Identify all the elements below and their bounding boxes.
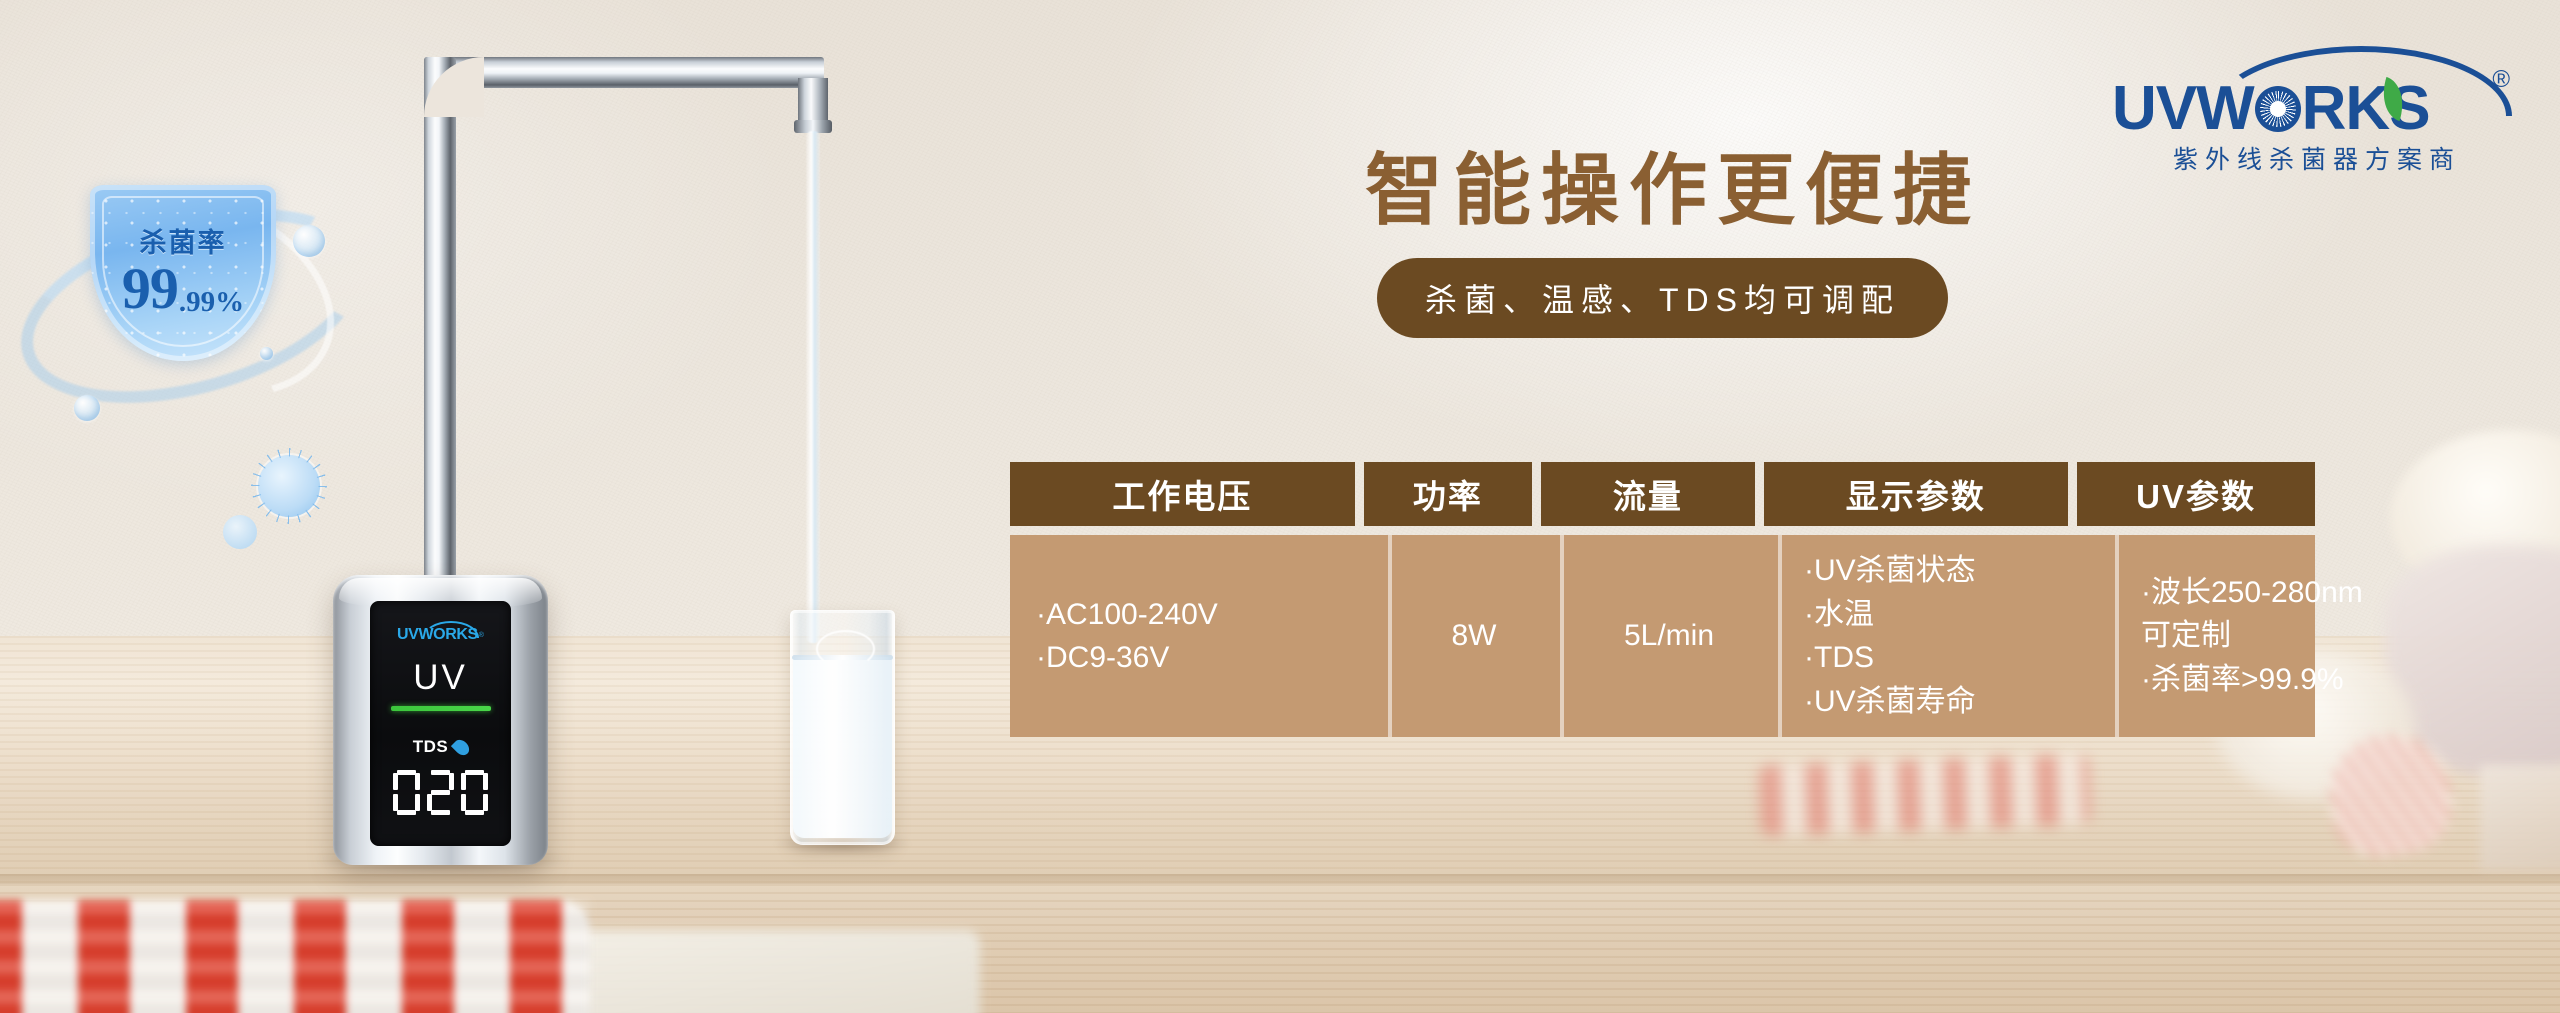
- glass-water-fill: [793, 657, 892, 838]
- badge-value: 99 .99%: [122, 262, 244, 315]
- cell-display-line-3: ·TDS: [1804, 636, 1874, 680]
- brand-sun-icon: [2255, 86, 2301, 132]
- bubble-icon-1: [293, 225, 325, 257]
- cell-power: 8W: [1388, 535, 1560, 737]
- cell-uv-line-1: ·波长250-280nm: [2141, 571, 2363, 615]
- seven-segment-digit-0b: [461, 770, 488, 815]
- display-tds-value: [393, 770, 488, 815]
- display-brand-arc-icon: [423, 621, 479, 638]
- display-status-bar: [391, 706, 491, 711]
- checkered-cloth-right: [1759, 754, 2091, 835]
- page-title: 智能操作更便捷: [1365, 128, 1981, 240]
- cell-display-line-2: ·水温: [1804, 593, 1874, 637]
- uv-sterilizer-device: UVWORKS ® UV TDS: [333, 575, 548, 865]
- bubble-icon-2: [74, 395, 100, 421]
- display-brand-logo: UVWORKS ®: [397, 626, 484, 644]
- cell-display-line-4: ·UV杀菌寿命: [1804, 680, 1976, 724]
- cell-power-value: 8W: [1452, 614, 1497, 658]
- brand-name: UVW RKS: [2112, 78, 2512, 140]
- germ-icon-2: [223, 515, 257, 549]
- cell-uv-params: ·波长250-280nm 可定制 ·杀菌率>99.9%: [2115, 535, 2384, 737]
- seven-segment-digit-2: [427, 770, 454, 815]
- column-header-power: 功率: [1364, 462, 1532, 526]
- product-banner: 杀菌率 99 .99% UVWORKS ® UV: [0, 0, 2560, 1013]
- water-drop-icon: [451, 736, 472, 757]
- cell-uv-line-2: 可定制: [2141, 614, 2231, 658]
- display-brand-registered: ®: [479, 632, 484, 639]
- spec-table-header-row: 工作电压 功率 流量 显示参数 UV参数: [1010, 462, 2315, 526]
- cell-uv-line-3: ·杀菌率>99.9%: [2141, 658, 2344, 702]
- column-header-flow: 流量: [1541, 462, 1754, 526]
- brand-name-part2: RKS: [2302, 78, 2430, 140]
- display-tds-label: TDS: [413, 737, 449, 757]
- cell-display-line-1: ·UV杀菌状态: [1804, 549, 1976, 593]
- germ-icon: [258, 455, 320, 517]
- faucet-vertical-column: [424, 57, 456, 597]
- badge-label: 杀菌率: [140, 230, 227, 257]
- column-header-uv: UV参数: [2077, 462, 2315, 526]
- display-mode-label: UV: [413, 660, 468, 695]
- spec-table-body-row: ·AC100-240V ·DC9-36V 8W 5L/min ·UV杀菌状态 ·…: [1010, 535, 2315, 737]
- seven-segment-digit-0: [393, 770, 420, 815]
- cell-flow-value: 5L/min: [1624, 614, 1714, 658]
- cell-flow: 5L/min: [1560, 535, 1778, 737]
- water-glass: [790, 610, 895, 845]
- plate-prop: [560, 930, 980, 1013]
- column-header-voltage: 工作电压: [1010, 462, 1355, 526]
- cell-voltage: ·AC100-240V ·DC9-36V: [1010, 535, 1388, 737]
- water-stream: [806, 131, 820, 643]
- brand-name-part1: UVW: [2112, 78, 2254, 140]
- brand-tagline: 紫外线杀菌器方案商: [2122, 140, 2512, 176]
- brand-registered-mark: ®: [2492, 66, 2510, 94]
- cell-voltage-line-1: ·AC100-240V: [1036, 593, 1218, 637]
- brand-logo: UVW RKS ® 紫外线杀菌器方案商: [2112, 40, 2512, 165]
- checkered-cloth-left: [0, 900, 590, 1013]
- block-prop: [2480, 765, 2560, 870]
- device-display-screen: UVWORKS ® UV TDS: [370, 601, 511, 846]
- badge-value-big: 99: [122, 262, 178, 315]
- feature-pill: 杀菌、温感、TDS均可调配: [1377, 258, 1948, 338]
- spec-table: 工作电压 功率 流量 显示参数 UV参数 ·AC100-240V ·DC9-36…: [1010, 462, 2315, 737]
- cell-voltage-line-2: ·DC9-36V: [1036, 636, 1169, 680]
- water-splash-icon: [816, 630, 875, 668]
- sterilization-rate-badge: 杀菌率 99 .99%: [28, 185, 338, 375]
- display-tds-row: TDS: [413, 737, 469, 757]
- bubble-icon-3: [260, 347, 273, 360]
- badge-text-group: 杀菌率 99 .99%: [90, 185, 276, 361]
- column-header-display: 显示参数: [1764, 462, 2069, 526]
- badge-value-small: .99%: [179, 289, 244, 316]
- cell-display-params: ·UV杀菌状态 ·水温 ·TDS ·UV杀菌寿命: [1778, 535, 2115, 737]
